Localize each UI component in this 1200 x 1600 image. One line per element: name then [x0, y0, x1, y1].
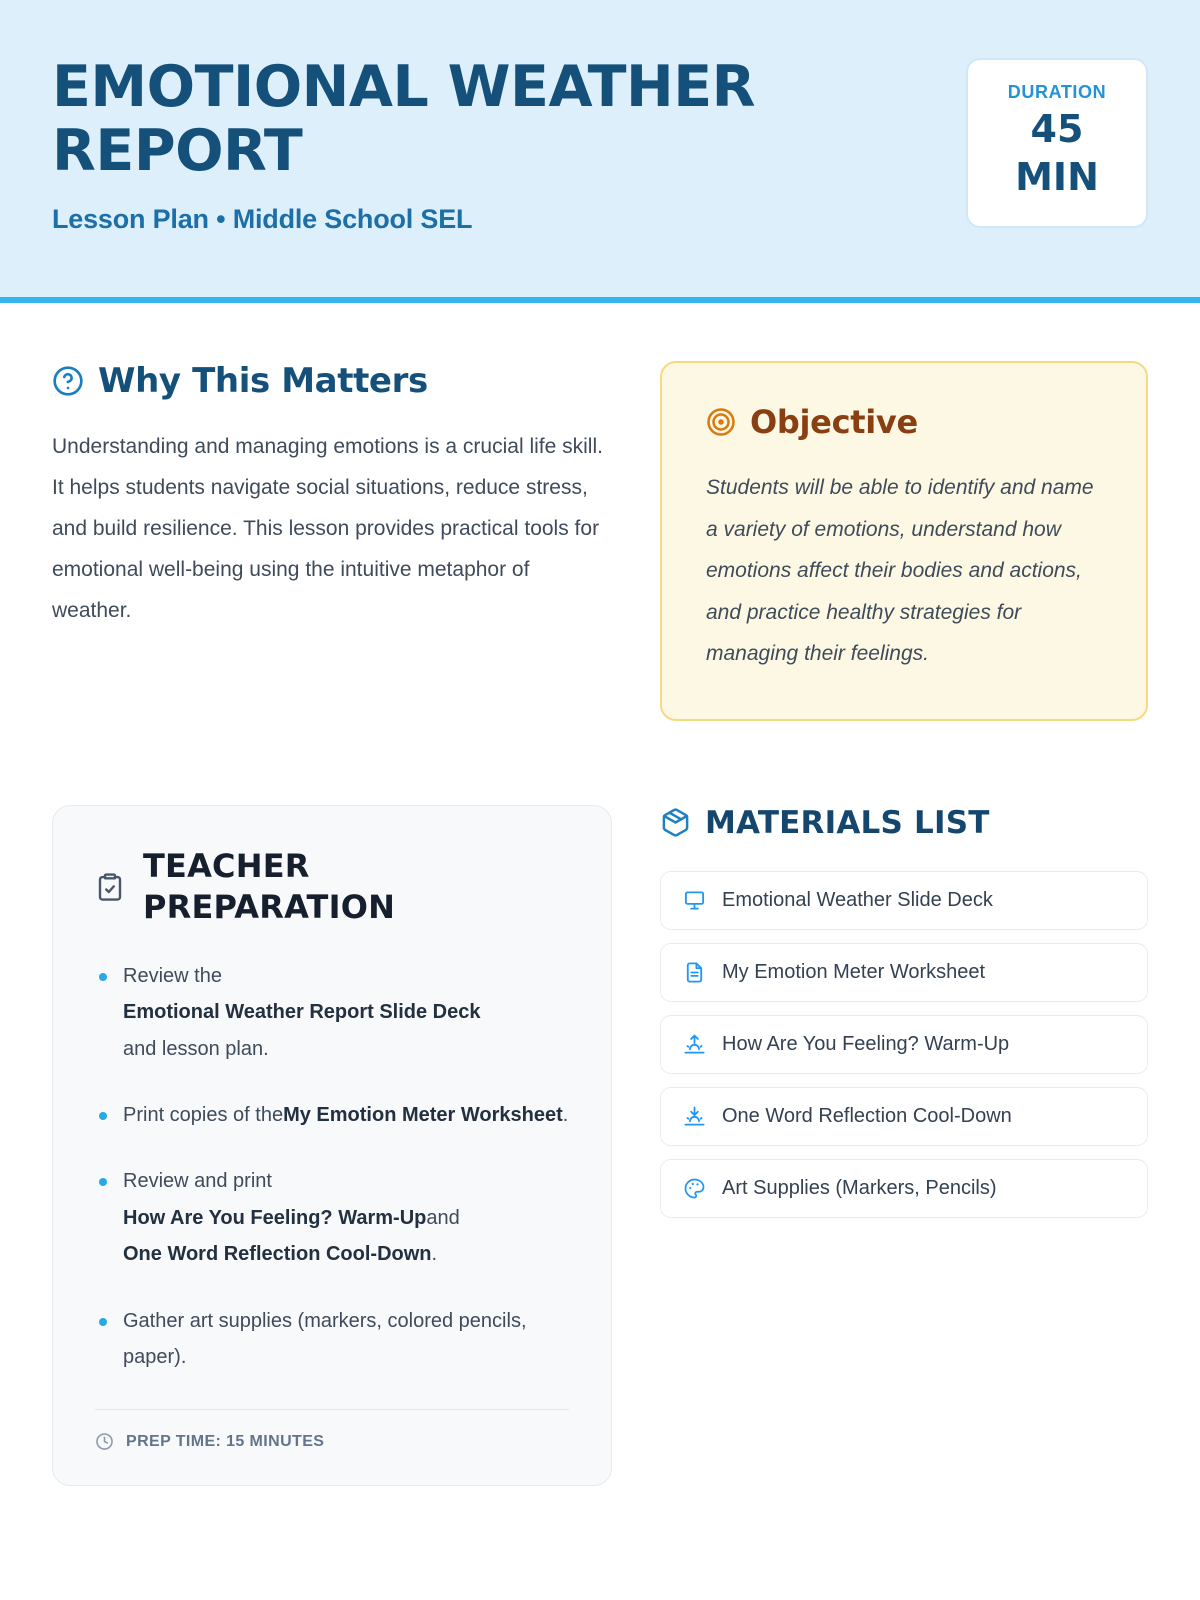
- page-title: EMOTIONAL WEATHER REPORT: [52, 56, 882, 184]
- prep-list-item: Print copies of the My Emotion Meter Wor…: [95, 1097, 569, 1133]
- duration-unit: MIN: [980, 154, 1134, 202]
- objective-body-text: Students will be able to identify and na…: [706, 467, 1102, 675]
- teacher-prep-list: Review the Emotional Weather Report Slid…: [95, 958, 569, 1376]
- circle-question-icon: [52, 365, 84, 397]
- prep-emphasis-text: One Word Reflection Cool-Down: [123, 1236, 432, 1272]
- material-item-label: How Are You Feeling? Warm-Up: [722, 1033, 1009, 1056]
- duration-label: DURATION: [980, 82, 1134, 103]
- sunrise-icon: [683, 1033, 706, 1056]
- prep-list-item: Review and print How Are You Feeling? Wa…: [95, 1163, 569, 1272]
- material-item-label: Art Supplies (Markers, Pencils): [722, 1177, 997, 1200]
- prep-plain-text: Review the: [123, 958, 222, 994]
- why-heading: Why This Matters: [98, 361, 428, 401]
- material-item: How Are You Feeling? Warm-Up: [660, 1015, 1148, 1074]
- prep-emphasis-text: Emotional Weather Report Slide Deck: [123, 994, 481, 1030]
- materials-list-section: MATERIALS LIST Emotional Weather Slide D…: [660, 805, 1148, 1218]
- material-item: One Word Reflection Cool-Down: [660, 1087, 1148, 1146]
- prep-list-item: Gather art supplies (markers, colored pe…: [95, 1303, 569, 1376]
- sunset-icon: [683, 1105, 706, 1128]
- why-this-matters-section: Why This Matters Understanding and manag…: [52, 361, 612, 632]
- material-item-label: One Word Reflection Cool-Down: [722, 1105, 1012, 1128]
- clock-icon: [95, 1432, 114, 1451]
- page-subtitle: Lesson Plan • Middle School SEL: [52, 204, 882, 235]
- clipboard-check-icon: [95, 872, 125, 902]
- package-icon: [660, 807, 691, 838]
- prep-time-footer: PREP TIME: 15 MINUTES: [95, 1410, 569, 1451]
- palette-icon: [683, 1177, 706, 1200]
- prep-list-item: Review the Emotional Weather Report Slid…: [95, 958, 569, 1067]
- prep-plain-text: .: [432, 1236, 438, 1272]
- teacher-prep-heading: TEACHER PREPARATION: [143, 846, 483, 928]
- material-item-label: My Emotion Meter Worksheet: [722, 961, 985, 984]
- presentation-icon: [683, 889, 706, 912]
- materials-items: Emotional Weather Slide DeckMy Emotion M…: [660, 871, 1148, 1218]
- objective-card: Objective Students will be able to ident…: [660, 361, 1148, 721]
- prep-emphasis-text: How Are You Feeling? Warm-Up: [123, 1200, 426, 1236]
- teacher-preparation-card: TEACHER PREPARATION Review the Emotional…: [52, 805, 612, 1486]
- prep-plain-text: Print copies of the: [123, 1097, 283, 1133]
- material-item: Emotional Weather Slide Deck: [660, 871, 1148, 930]
- why-body-text: Understanding and managing emotions is a…: [52, 427, 612, 632]
- prep-plain-text: Review and print: [123, 1163, 272, 1199]
- page-header: EMOTIONAL WEATHER REPORT Lesson Plan • M…: [0, 0, 1200, 303]
- material-item-label: Emotional Weather Slide Deck: [722, 889, 993, 912]
- prep-plain-text: and: [426, 1200, 459, 1236]
- prep-plain-text: Gather art supplies (markers, colored pe…: [123, 1303, 569, 1376]
- objective-heading: Objective: [750, 403, 918, 441]
- prep-plain-text: and lesson plan.: [123, 1031, 269, 1067]
- document-icon: [683, 961, 706, 984]
- prep-time-text: PREP TIME: 15 MINUTES: [126, 1433, 324, 1451]
- prep-plain-text: .: [563, 1097, 569, 1133]
- target-icon: [706, 407, 736, 437]
- material-item: My Emotion Meter Worksheet: [660, 943, 1148, 1002]
- duration-value: 45: [980, 105, 1134, 154]
- duration-badge: DURATION 45 MIN: [966, 58, 1148, 228]
- material-item: Art Supplies (Markers, Pencils): [660, 1159, 1148, 1218]
- materials-heading: MATERIALS LIST: [705, 805, 990, 841]
- prep-emphasis-text: My Emotion Meter Worksheet: [283, 1097, 563, 1133]
- page-content: Why This Matters Understanding and manag…: [0, 303, 1200, 1486]
- header-text-group: EMOTIONAL WEATHER REPORT Lesson Plan • M…: [52, 52, 882, 235]
